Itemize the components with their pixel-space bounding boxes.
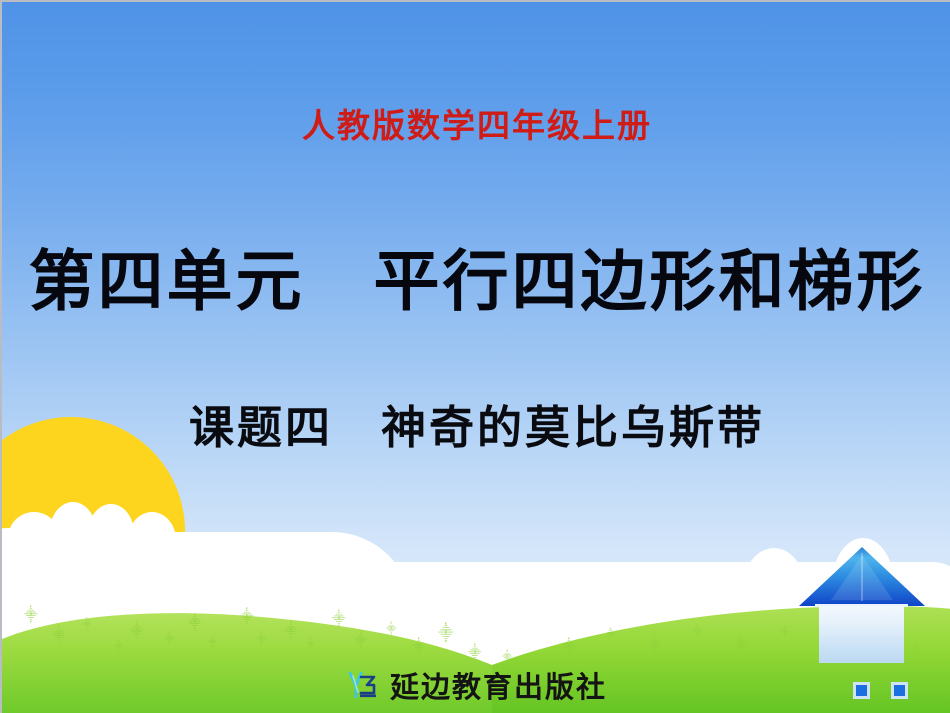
grass-tuft-icon: ⸎ <box>284 625 298 638</box>
grass-tuft-icon: ⸎ <box>306 639 315 652</box>
grass-tuft-icon: ⸎ <box>188 617 202 630</box>
grass-tuft-icon: ⸎ <box>468 647 482 660</box>
grass-tuft-icon: ⸎ <box>24 609 38 622</box>
house-body <box>819 606 904 663</box>
publisher-monogram-icon <box>347 668 381 702</box>
page-title: 第四单元 平行四边形和梯形 <box>2 228 950 324</box>
grass-tuft-icon: ⸎ <box>780 627 789 640</box>
cloud-puff <box>128 512 176 568</box>
grass-tuft-icon: ⸎ <box>648 639 662 652</box>
grass-tuft-icon: ⸎ <box>240 611 254 624</box>
house-icon <box>797 545 927 663</box>
publisher-mark: 延边教育出版社 <box>2 664 950 706</box>
grass-tuft-icon: ⸎ <box>256 633 266 646</box>
grass-tuft-icon: ⸎ <box>114 641 123 654</box>
grass-tuft-icon: ⸎ <box>502 651 512 664</box>
house-roof-icon <box>797 545 927 608</box>
grass-tuft-icon: ⸎ <box>412 641 426 654</box>
publisher-name: 延边教育出版社 <box>390 664 607 706</box>
grass-tuft-icon: ⸎ <box>734 639 748 652</box>
grass-tuft-icon: ⸎ <box>386 623 396 636</box>
course-header-text: 人教版数学四年级上册 <box>2 99 950 147</box>
page-subtitle: 课题四 神奇的莫比乌斯带 <box>2 391 950 456</box>
grass-tuft-icon: ⸎ <box>692 625 702 638</box>
grass-tuft-icon: ⸎ <box>332 613 346 626</box>
grass-tuft-icon: ⸎ <box>562 641 576 654</box>
grass-tuft-icon: ⸎ <box>130 625 144 638</box>
grass-tuft-icon: ⸎ <box>438 627 454 640</box>
grass-tuft-icon: ⸎ <box>52 629 66 642</box>
grass-tuft-icon: ⸎ <box>208 637 217 650</box>
presentation-slide: ⸎ ⸎ ⸎ ⸎ ⸎ ⸎ ⸎ ⸎ ⸎ ⸎ ⸎ ⸎ ⸎ ⸎ ⸎ ⸎ ⸎ ⸎ ⸎ ⸎ … <box>0 0 950 713</box>
grass-tuft-icon: ⸎ <box>82 619 91 632</box>
grass-tuft-icon: ⸎ <box>606 629 615 642</box>
grass-tuft-icon: ⸎ <box>354 635 368 648</box>
grass-tuft-icon: ⸎ <box>164 633 174 646</box>
cloud-puff <box>88 504 134 562</box>
